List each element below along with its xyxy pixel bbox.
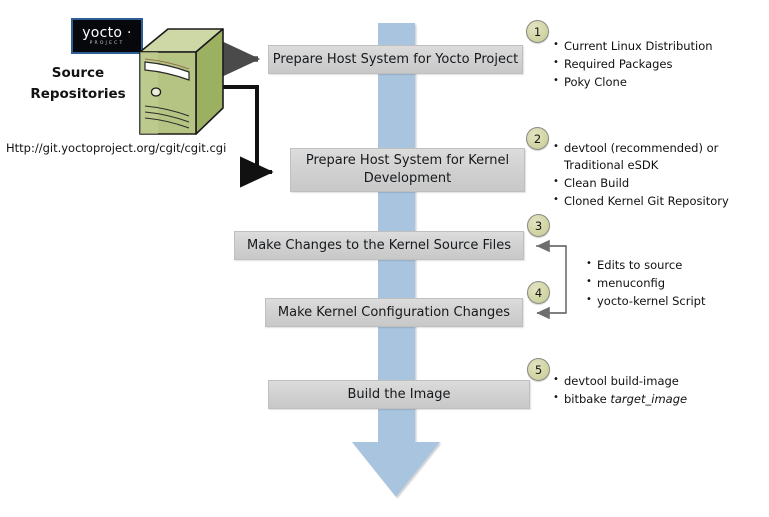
process-box-build-image-label: Build the Image <box>348 386 451 404</box>
process-box-prepare-host-kernel-line1: Prepare Host System for Kernel <box>306 153 509 168</box>
yocto-logo-subtext: PROJECT <box>90 42 125 47</box>
step-badge-1: 1 <box>526 20 549 43</box>
note-item-prefix: bitbake <box>564 392 610 406</box>
process-box-make-changes-label: Make Changes to the Kernel Source Files <box>247 237 511 255</box>
notes-steps-3-and-4: Edits to source menuconfig yocto-kernel … <box>586 257 706 311</box>
step-badge-2-number: 2 <box>534 132 541 146</box>
note-item: Cloned Kernel Git Repository <box>553 193 729 210</box>
source-repositories-label: Source Repositories <box>18 63 138 105</box>
process-box-prepare-host-kernel-line2: Development <box>364 171 452 186</box>
diagram-canvas: yocto · PROJECT Source Repositories Http… <box>0 0 769 517</box>
step-badge-5-number: 5 <box>535 363 542 377</box>
process-box-prepare-host-kernel-label: Prepare Host System for Kernel Developme… <box>306 152 509 187</box>
step-badge-1-number: 1 <box>534 25 541 39</box>
step-badge-2: 2 <box>526 127 549 150</box>
source-repositories-url: Http://git.yoctoproject.org/cgit/cgit.cg… <box>6 141 226 155</box>
process-box-make-changes[interactable]: Make Changes to the Kernel Source Files <box>234 231 524 260</box>
note-item: bitbake target_image <box>553 391 687 408</box>
step-badge-3: 3 <box>527 214 550 237</box>
yocto-project-logo: yocto · PROJECT <box>71 18 143 54</box>
note-item: Edits to source <box>586 257 706 274</box>
note-item: Current Linux Distribution <box>553 38 713 55</box>
note-item-emphasis: target_image <box>610 392 687 406</box>
process-box-kernel-config-label: Make Kernel Configuration Changes <box>278 304 510 322</box>
notes-step-5: devtool build-image bitbake target_image <box>553 373 687 409</box>
notes-step-1: Current Linux Distribution Required Pack… <box>553 38 713 92</box>
server-tower-icon <box>134 26 226 138</box>
yocto-logo-wordmark: yocto · <box>82 26 132 40</box>
source-label-line2: Repositories <box>18 84 138 105</box>
notes-step-2: devtool (recommended) or Traditional eSD… <box>553 140 729 211</box>
note-item-line2: Traditional eSDK <box>564 157 729 174</box>
process-box-prepare-host-yocto-label: Prepare Host System for Yocto Project <box>273 51 518 69</box>
process-box-prepare-host-kernel[interactable]: Prepare Host System for Kernel Developme… <box>290 148 525 192</box>
process-box-build-image[interactable]: Build the Image <box>268 380 530 409</box>
note-item: yocto-kernel Script <box>586 293 706 310</box>
note-item: devtool build-image <box>553 373 687 390</box>
note-item: menuconfig <box>586 275 706 292</box>
step-badge-4-number: 4 <box>535 286 542 300</box>
step-badge-3-number: 3 <box>535 219 542 233</box>
step-badge-5: 5 <box>527 358 550 381</box>
process-box-kernel-config[interactable]: Make Kernel Configuration Changes <box>265 298 523 327</box>
note-item-line1: devtool (recommended) or <box>564 140 729 157</box>
source-label-line1: Source <box>18 63 138 84</box>
step-badge-4: 4 <box>527 281 550 304</box>
process-box-prepare-host-yocto[interactable]: Prepare Host System for Yocto Project <box>268 45 523 74</box>
note-item: Clean Build <box>553 175 729 192</box>
note-item: devtool (recommended) or Traditional eSD… <box>553 140 729 174</box>
note-item: Poky Clone <box>553 74 713 91</box>
note-item: Required Packages <box>553 56 713 73</box>
